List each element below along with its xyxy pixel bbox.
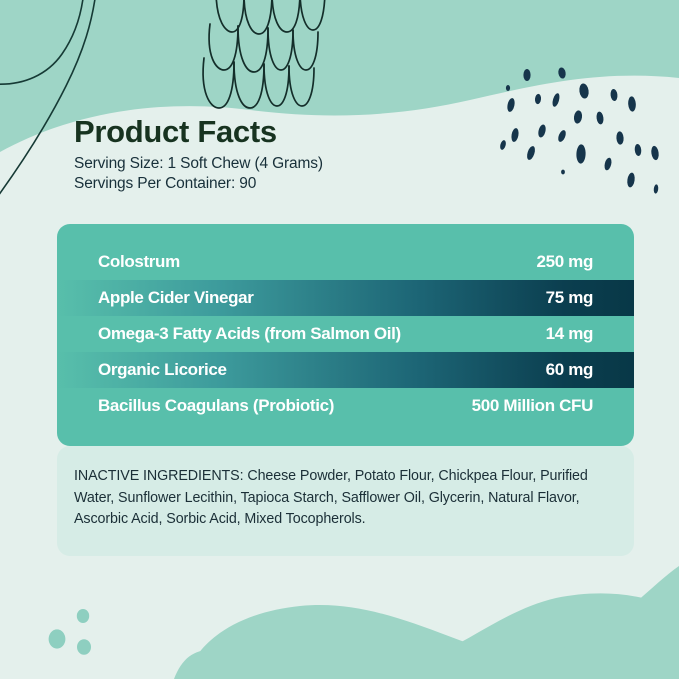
curved-line-outer-icon — [0, 0, 84, 84]
fact-value: 60 mg — [546, 360, 593, 380]
fact-name: Bacillus Coagulans (Probiotic) — [98, 396, 334, 416]
fact-row: Apple Cider Vinegar75 mg — [57, 280, 634, 316]
fact-value: 14 mg — [546, 324, 593, 344]
supplement-facts-card: Colostrum250 mgApple Cider Vinegar75 mgO… — [57, 224, 634, 446]
fact-row: Bacillus Coagulans (Probiotic)500 Millio… — [57, 388, 634, 424]
product-facts-page: Product Facts Serving Size: 1 Soft Chew … — [0, 0, 679, 679]
teal-wave-bottom-overlay — [186, 566, 679, 679]
fact-value: 75 mg — [546, 288, 593, 308]
header-block: Product Facts Serving Size: 1 Soft Chew … — [74, 116, 634, 195]
fact-row: Organic Licorice60 mg — [57, 352, 634, 388]
fact-value: 500 Million CFU — [472, 396, 593, 416]
teal-wave-bottom — [174, 593, 675, 679]
fact-name: Apple Cider Vinegar — [98, 288, 254, 308]
fact-name: Omega-3 Fatty Acids (from Salmon Oil) — [98, 324, 401, 344]
fact-row: Colostrum250 mg — [57, 244, 634, 280]
fact-value: 250 mg — [537, 252, 594, 272]
page-title: Product Facts — [74, 116, 634, 149]
inactive-ingredients-text: INACTIVE INGREDIENTS: Cheese Powder, Pot… — [74, 466, 619, 531]
loop-scribble-pattern — [203, 0, 325, 108]
fact-name: Organic Licorice — [98, 360, 227, 380]
teal-bubble-dots — [49, 609, 91, 655]
facts-rows-container: Colostrum250 mgApple Cider Vinegar75 mgO… — [57, 244, 634, 424]
servings-per-container-line: Servings Per Container: 90 — [74, 174, 634, 195]
fact-row: Omega-3 Fatty Acids (from Salmon Oil)14 … — [57, 316, 634, 352]
serving-size-line: Serving Size: 1 Soft Chew (4 Grams) — [74, 154, 634, 175]
fact-name: Colostrum — [98, 252, 180, 272]
